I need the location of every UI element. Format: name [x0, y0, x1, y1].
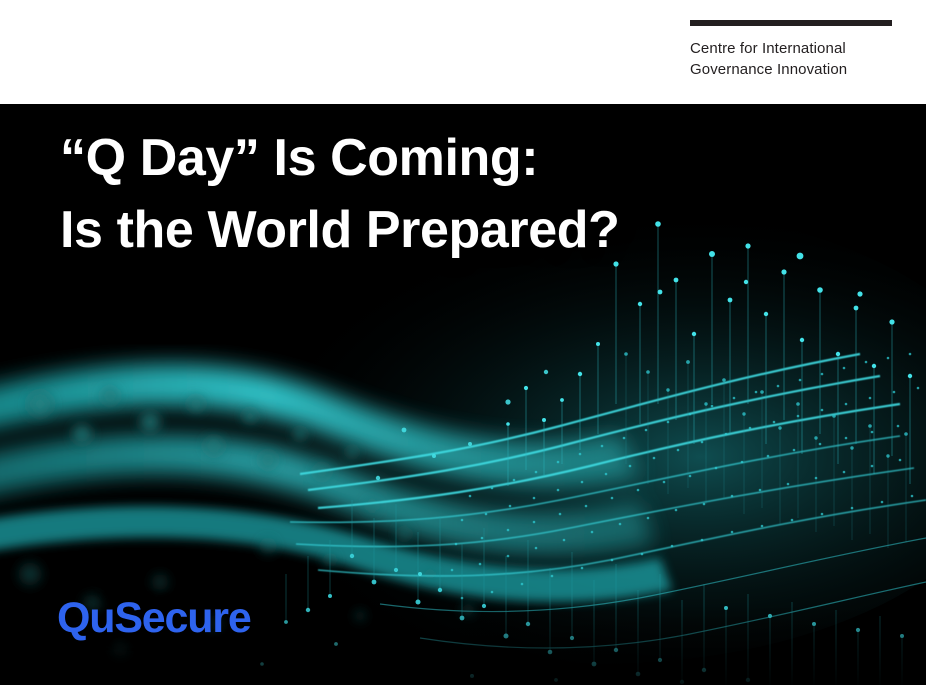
hero-banner: “Q Day” Is Coming: Is the World Prepared…	[0, 104, 926, 685]
logo-rule-icon	[690, 20, 892, 26]
slide-page: Centre for International Governance Inno…	[0, 0, 926, 685]
page-title-line-2: Is the World Prepared?	[60, 194, 619, 266]
logo-line-2: Governance Innovation	[690, 59, 894, 80]
page-title-line-1: “Q Day” Is Coming:	[60, 122, 619, 194]
page-title: “Q Day” Is Coming: Is the World Prepared…	[60, 122, 619, 266]
qusecure-logo: QuSecure	[57, 597, 251, 640]
logo-line-1: Centre for International	[690, 38, 894, 59]
cigi-logo: Centre for International Governance Inno…	[690, 20, 894, 80]
header-bar: Centre for International Governance Inno…	[0, 0, 926, 104]
